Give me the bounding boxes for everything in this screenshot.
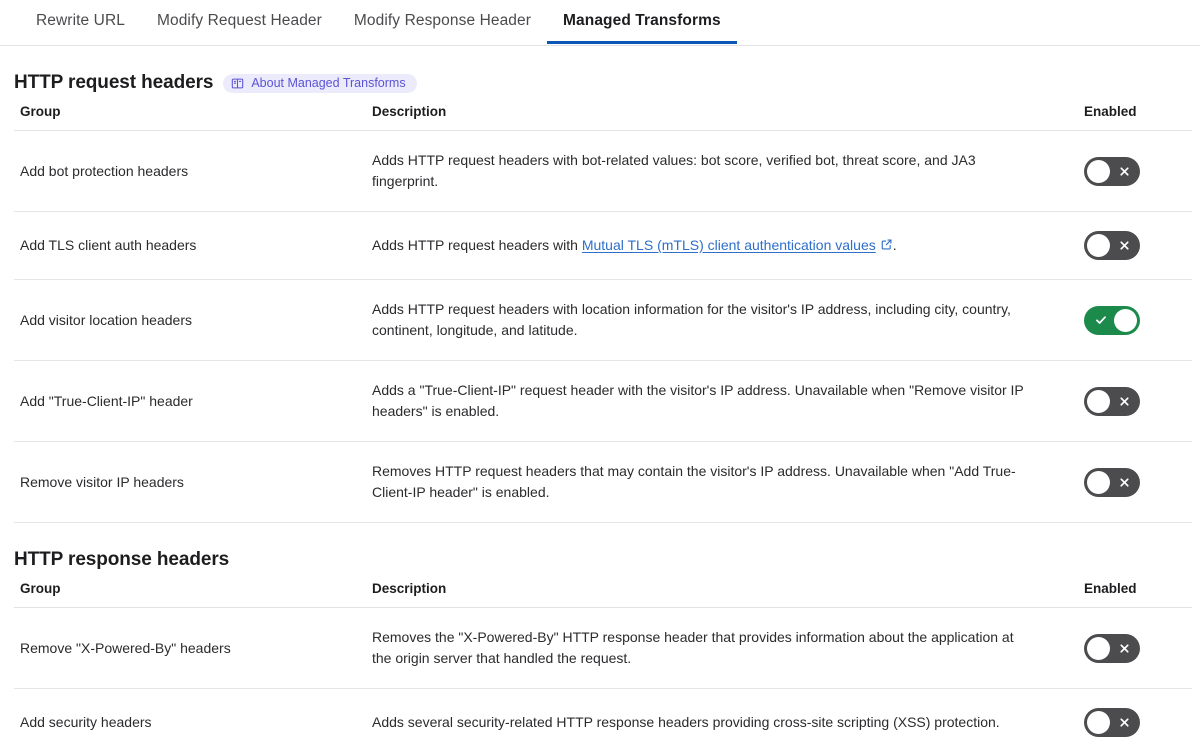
row-description: Adds HTTP request headers with location …	[372, 280, 1072, 361]
table-header-row: Group Description Enabled	[14, 581, 1192, 608]
enabled-toggle[interactable]	[1084, 708, 1140, 737]
column-header-description: Description	[372, 581, 1072, 608]
close-icon	[1118, 165, 1131, 178]
row-enabled-cell	[1072, 361, 1192, 442]
row-description: Removes the "X-Powered-By" HTTP response…	[372, 608, 1072, 689]
check-icon	[1094, 313, 1108, 327]
section-http-request-headers: HTTP request headers About Managed Trans…	[0, 46, 1200, 523]
toggle-knob	[1114, 309, 1137, 332]
row-description: Adds HTTP request headers with bot-relat…	[372, 131, 1072, 212]
row-description: Adds several security-related HTTP respo…	[372, 689, 1072, 742]
enabled-toggle[interactable]	[1084, 634, 1140, 663]
tab-modify-request-header[interactable]: Modify Request Header	[141, 0, 338, 43]
row-group-label: Add TLS client auth headers	[14, 212, 372, 280]
description-text-before: Adds HTTP request headers with	[372, 237, 582, 253]
row-group-label: Remove visitor IP headers	[14, 442, 372, 523]
row-group-label: Remove "X-Powered-By" headers	[14, 608, 372, 689]
row-group-label: Add visitor location headers	[14, 280, 372, 361]
tab-bar: Rewrite URL Modify Request Header Modify…	[0, 0, 1200, 46]
row-group-label: Add bot protection headers	[14, 131, 372, 212]
column-header-group: Group	[14, 104, 372, 131]
row-enabled-cell	[1072, 280, 1192, 361]
table-header-row: Group Description Enabled	[14, 104, 1192, 131]
tab-rewrite-url[interactable]: Rewrite URL	[20, 0, 141, 43]
row-enabled-cell	[1072, 131, 1192, 212]
close-icon	[1118, 642, 1131, 655]
response-headers-table: Group Description Enabled Remove "X-Powe…	[14, 581, 1192, 742]
row-group-label: Add "True-Client-IP" header	[14, 361, 372, 442]
table-row: Add security headers Adds several securi…	[14, 689, 1192, 742]
close-icon	[1118, 716, 1131, 729]
table-row: Add bot protection headers Adds HTTP req…	[14, 131, 1192, 212]
enabled-toggle[interactable]	[1084, 387, 1140, 416]
tab-managed-transforms[interactable]: Managed Transforms	[547, 0, 737, 43]
enabled-toggle[interactable]	[1084, 306, 1140, 335]
book-icon	[231, 77, 244, 90]
toggle-knob	[1087, 637, 1110, 660]
enabled-toggle[interactable]	[1084, 468, 1140, 497]
mtls-documentation-link[interactable]: Mutual TLS (mTLS) client authentication …	[582, 237, 876, 253]
row-description: Adds a "True-Client-IP" request header w…	[372, 361, 1072, 442]
toggle-knob	[1087, 471, 1110, 494]
table-row: Remove visitor IP headers Removes HTTP r…	[14, 442, 1192, 523]
column-header-description: Description	[372, 104, 1072, 131]
badge-label: About Managed Transforms	[251, 77, 405, 90]
row-enabled-cell	[1072, 442, 1192, 523]
close-icon	[1118, 476, 1131, 489]
column-header-enabled: Enabled	[1072, 581, 1192, 608]
row-enabled-cell	[1072, 608, 1192, 689]
external-link-icon	[880, 236, 893, 257]
table-row: Add visitor location headers Adds HTTP r…	[14, 280, 1192, 361]
table-row: Remove "X-Powered-By" headers Removes th…	[14, 608, 1192, 689]
enabled-toggle[interactable]	[1084, 157, 1140, 186]
column-header-group: Group	[14, 581, 372, 608]
toggle-knob	[1087, 234, 1110, 257]
toggle-knob	[1087, 160, 1110, 183]
table-row: Add TLS client auth headers Adds HTTP re…	[14, 212, 1192, 280]
section-header: HTTP request headers About Managed Trans…	[14, 46, 1186, 104]
row-description: Adds HTTP request headers with Mutual TL…	[372, 212, 1072, 280]
section-title: HTTP request headers	[14, 72, 213, 94]
enabled-toggle[interactable]	[1084, 231, 1140, 260]
row-group-label: Add security headers	[14, 689, 372, 742]
table-row: Add "True-Client-IP" header Adds a "True…	[14, 361, 1192, 442]
close-icon	[1118, 239, 1131, 252]
section-header: HTTP response headers	[14, 523, 1186, 581]
toggle-knob	[1087, 711, 1110, 734]
section-title: HTTP response headers	[14, 549, 229, 571]
close-icon	[1118, 395, 1131, 408]
row-enabled-cell	[1072, 689, 1192, 742]
row-description: Removes HTTP request headers that may co…	[372, 442, 1072, 523]
section-http-response-headers: HTTP response headers Group Description …	[0, 523, 1200, 742]
column-header-enabled: Enabled	[1072, 104, 1192, 131]
about-managed-transforms-badge[interactable]: About Managed Transforms	[223, 74, 416, 93]
row-enabled-cell	[1072, 212, 1192, 280]
toggle-knob	[1087, 390, 1110, 413]
description-text-after: .	[893, 237, 897, 253]
tab-modify-response-header[interactable]: Modify Response Header	[338, 0, 547, 43]
request-headers-table: Group Description Enabled Add bot protec…	[14, 104, 1192, 523]
